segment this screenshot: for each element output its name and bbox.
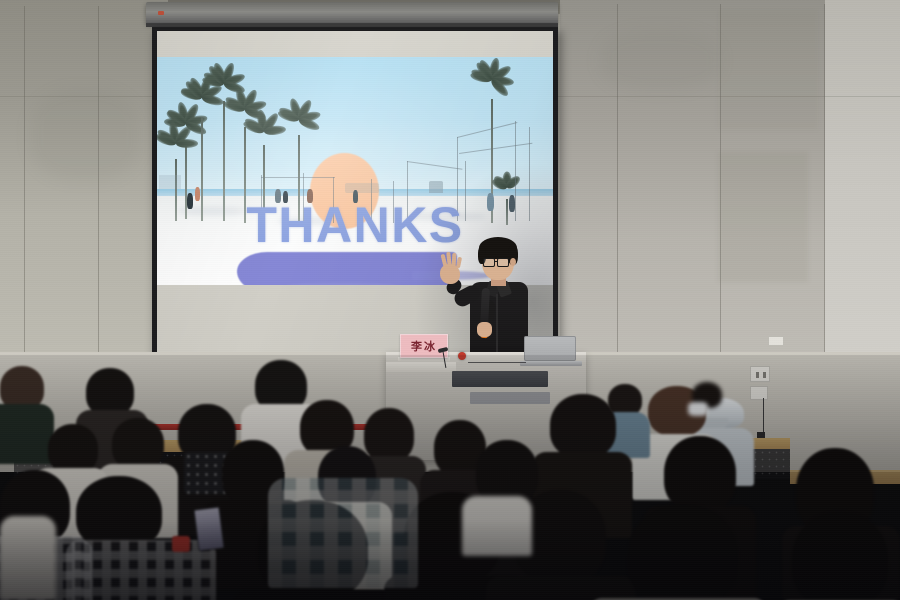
wall-patch: [718, 152, 808, 282]
pier-structure: [345, 183, 379, 193]
wall-stain: [600, 30, 720, 90]
wall-seam: [98, 6, 99, 396]
audience-head: [48, 424, 98, 474]
audience-torso: [0, 404, 54, 464]
plaid-shirt-torso: [66, 540, 216, 600]
wall-panel-left: [0, 0, 168, 395]
lectern-control-buttons[interactable]: [470, 392, 550, 404]
phone-case: [172, 536, 190, 552]
wall-outlet[interactable]: [750, 386, 768, 400]
cable-run: [763, 398, 764, 434]
eyeglasses-icon: [497, 258, 509, 267]
beach-structure-bar: [407, 161, 463, 170]
housing-indicator-icon: [158, 11, 164, 15]
audience-head: [792, 512, 888, 600]
laptop[interactable]: [524, 336, 576, 361]
screen-roller-housing[interactable]: [146, 2, 558, 24]
audience-torso: [462, 496, 532, 556]
eyeglasses-icon: [483, 258, 495, 267]
volleyball-net-line: [261, 177, 335, 178]
face-mask: [688, 402, 708, 416]
audience-torso: [0, 516, 56, 600]
audience-head: [112, 418, 164, 470]
beach-person: [195, 187, 200, 201]
lifeguard-tower: [429, 181, 443, 193]
beach-hut: [159, 175, 181, 189]
presenter-nameplate: 李冰: [400, 334, 448, 358]
audience-torso: [486, 576, 636, 600]
audience-head: [86, 368, 134, 416]
audience-head: [550, 394, 616, 458]
smartphone-screen[interactable]: [194, 507, 225, 552]
audience-head: [364, 408, 414, 462]
presenter-finger: [456, 257, 462, 269]
slide-brushstroke-tail: [287, 283, 397, 285]
cable-run: [468, 362, 526, 363]
wall-stain: [30, 90, 140, 180]
slide-brushstroke: [237, 252, 457, 285]
audience-torso: [234, 590, 394, 600]
audience-head: [664, 436, 736, 512]
blue-plaid-shirt-torso: [268, 478, 418, 588]
wall-patch: [718, 10, 818, 130]
wall-outlet[interactable]: [750, 366, 770, 382]
audience-head: [76, 476, 162, 550]
wall-seam: [24, 6, 25, 392]
lectern-control-panel[interactable]: [452, 371, 548, 387]
lecture-hall-photo: THANKS: [0, 0, 900, 600]
eyeglasses-bridge: [495, 261, 498, 262]
audience-head: [628, 504, 738, 600]
nameplate-text: 李冰: [411, 338, 437, 354]
red-button[interactable]: [458, 352, 466, 360]
presenter-mic-hand: [477, 322, 492, 337]
wall-outlet[interactable]: [768, 336, 784, 346]
presenter-ear: [510, 258, 516, 266]
laptop-base: [520, 361, 582, 366]
